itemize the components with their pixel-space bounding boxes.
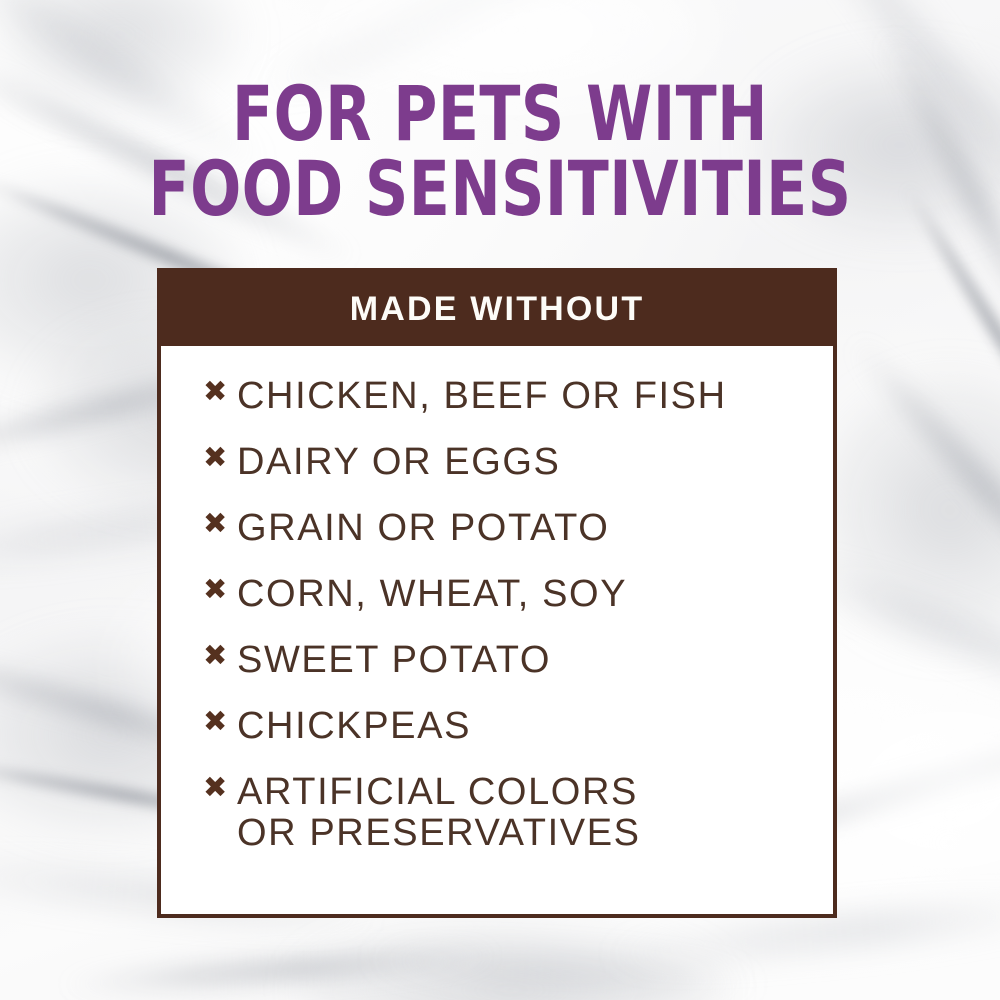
list-item: ✖ SWEET POTATO [203,640,833,681]
list-item-label: DAIRY OR EGGS [237,442,560,483]
list-item: ✖ GRAIN OR POTATO [203,508,833,549]
list-item-label: ARTIFICIAL COLORS OR PRESERVATIVES [237,772,641,854]
x-mark-icon: ✖ [203,442,237,473]
x-mark-icon: ✖ [203,574,237,605]
card-header: MADE WITHOUT [161,272,833,346]
headline-line-1: FOR PETS WITH [60,78,940,151]
card-body: ✖ CHICKEN, BEEF OR FISH ✖ DAIRY OR EGGS … [161,346,833,854]
list-item: ✖ DAIRY OR EGGS [203,442,833,483]
headline: FOR PETS WITH FOOD SENSITIVITIES [0,78,1000,226]
made-without-card: MADE WITHOUT ✖ CHICKEN, BEEF OR FISH ✖ D… [157,268,837,918]
x-mark-icon: ✖ [203,508,237,539]
list-item-label: GRAIN OR POTATO [237,508,609,549]
x-mark-icon: ✖ [203,772,237,803]
list-item-label: CORN, WHEAT, SOY [237,574,627,615]
list-item: ✖ CHICKEN, BEEF OR FISH [203,376,833,417]
list-item: ✖ ARTIFICIAL COLORS OR PRESERVATIVES [203,772,833,854]
x-mark-icon: ✖ [203,376,237,407]
card-header-title: MADE WITHOUT [350,290,645,329]
x-mark-icon: ✖ [203,640,237,671]
made-without-list: ✖ CHICKEN, BEEF OR FISH ✖ DAIRY OR EGGS … [203,376,833,854]
list-item: ✖ CHICKPEAS [203,706,833,747]
list-item-label: CHICKPEAS [237,706,471,747]
list-item-label: CHICKEN, BEEF OR FISH [237,376,727,417]
list-item: ✖ CORN, WHEAT, SOY [203,574,833,615]
headline-line-2: FOOD SENSITIVITIES [60,153,940,226]
x-mark-icon: ✖ [203,706,237,737]
product-claim-graphic: FOR PETS WITH FOOD SENSITIVITIES MADE WI… [0,0,1000,1000]
list-item-label: SWEET POTATO [237,640,551,681]
